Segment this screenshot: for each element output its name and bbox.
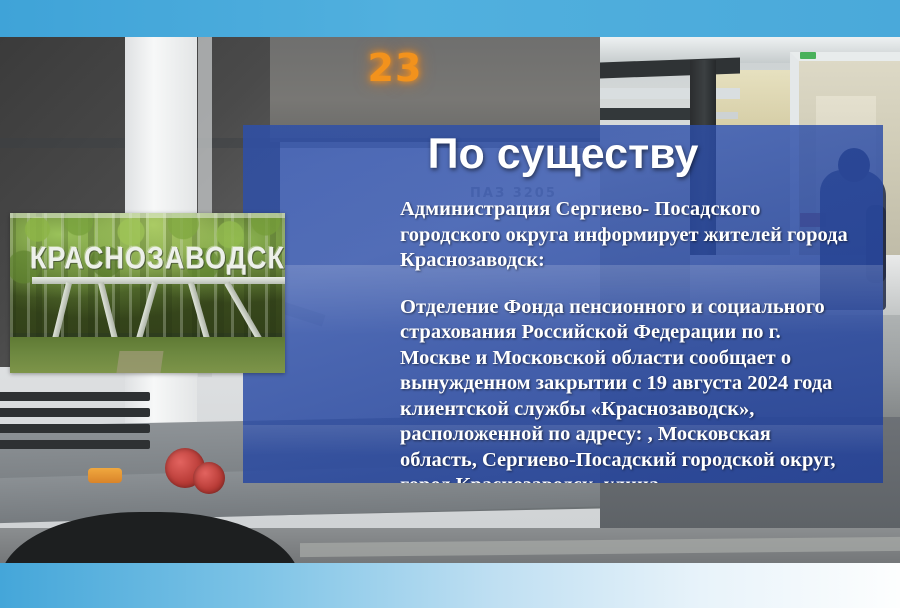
top-frame-band: [0, 0, 900, 37]
green-indicator-light-icon: [800, 52, 816, 59]
inset-photo-city-sign: КРАСНОЗАВОДСК: [10, 213, 285, 373]
inset-dirt-path: [116, 351, 163, 373]
bus-taillight: [193, 462, 225, 494]
announcement-paragraph-1: Администрация Сергиево- Посадского город…: [400, 197, 848, 274]
bus-side-marker-light: [88, 468, 122, 483]
bus-vent-louver: [0, 440, 150, 449]
announcement-paragraph-2: Отделение Фонда пенсионного и социальног…: [400, 295, 848, 484]
bottom-frame-band: [0, 563, 900, 608]
bus-vent-louver: [0, 424, 150, 433]
page-title: По существу: [243, 129, 883, 179]
bus-vent-louver: [0, 392, 150, 401]
bus-route-display: 23: [352, 42, 438, 94]
announcement-text: Администрация Сергиево- Посадского город…: [400, 197, 848, 483]
inset-top-edge: [10, 213, 285, 218]
news-graphic: 23 ПАЗ 3205 По существу Администрация Се…: [0, 0, 900, 608]
station-beam-secondary: [600, 108, 695, 120]
info-panel: По существу Администрация Сергиево- Поса…: [243, 125, 883, 483]
route-number: 23: [368, 46, 423, 90]
bus-vent-louver: [0, 408, 150, 417]
city-sign-lettering: КРАСНОЗАВОДСК: [30, 240, 285, 277]
